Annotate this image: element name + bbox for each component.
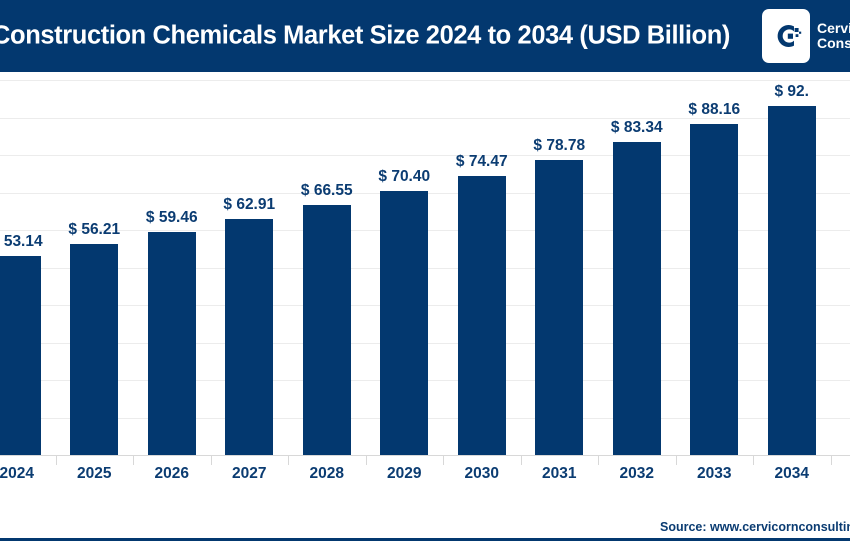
bar[interactable] — [148, 232, 196, 455]
x-axis-tick — [831, 455, 832, 465]
x-axis-ticks — [0, 455, 850, 465]
chart-screenshot: Construction Chemicals Market Size 2024 … — [0, 0, 850, 550]
header-top-edge — [0, 0, 850, 3]
x-axis-label: 2032 — [620, 465, 654, 483]
x-axis-label: 2029 — [387, 465, 421, 483]
bar[interactable] — [768, 106, 816, 455]
brand-logo-text: Cervi Cons — [817, 21, 850, 51]
x-axis-label: 2026 — [155, 465, 189, 483]
bar[interactable] — [303, 205, 351, 455]
source-attribution: Source: www.cervicornconsultin — [660, 520, 850, 534]
bar-value-label: $ 70.40 — [378, 168, 430, 186]
bar-slot: $ 78.78 — [521, 80, 599, 455]
cervicorn-c-logo-icon — [762, 9, 810, 63]
x-axis-label: 2033 — [697, 465, 731, 483]
bar-value-label: $ 83.34 — [611, 119, 663, 137]
bar-slot: $ 92. — [753, 80, 831, 455]
x-axis-label: 2034 — [775, 465, 809, 483]
x-axis-label: 2028 — [310, 465, 344, 483]
bar-value-label: $ 78.78 — [533, 137, 585, 155]
x-axis-tick — [211, 455, 212, 465]
bar[interactable] — [535, 160, 583, 455]
brand-logo-line1: Cervi — [817, 21, 850, 36]
x-axis-label: 2031 — [542, 465, 576, 483]
bar-slot: $ 56.21 — [56, 80, 134, 455]
x-axis-label: 2030 — [465, 465, 499, 483]
bar-value-label: $ 88.16 — [688, 101, 740, 119]
bar-value-label: $ 62.91 — [223, 196, 275, 214]
bar[interactable] — [613, 142, 661, 455]
bar[interactable] — [0, 256, 41, 455]
x-axis-tick — [56, 455, 57, 465]
x-axis-tick — [443, 455, 444, 465]
chart-plot-area: $ 53.14$ 56.21$ 59.46$ 62.91$ 66.55$ 70.… — [0, 72, 850, 483]
bar[interactable] — [380, 191, 428, 455]
footer-rule — [0, 538, 850, 541]
page-title: Construction Chemicals Market Size 2024 … — [0, 22, 730, 51]
chart-header: Construction Chemicals Market Size 2024 … — [0, 0, 850, 72]
bar-slot: $ 74.47 — [443, 80, 521, 455]
x-axis-tick — [676, 455, 677, 465]
bar[interactable] — [225, 219, 273, 455]
bar-series: $ 53.14$ 56.21$ 59.46$ 62.91$ 66.55$ 70.… — [0, 80, 850, 455]
bar[interactable] — [70, 244, 118, 455]
bar-value-label: $ 53.14 — [0, 233, 43, 251]
bar-value-label: $ 66.55 — [301, 182, 353, 200]
bar-slot: $ 88.16 — [676, 80, 754, 455]
x-axis-tick — [521, 455, 522, 465]
bar-value-label: $ 74.47 — [456, 153, 508, 171]
bar-value-label: $ 56.21 — [68, 221, 120, 239]
brand-logo: Cervi Cons — [762, 9, 850, 63]
x-axis-tick — [133, 455, 134, 465]
plot: $ 53.14$ 56.21$ 59.46$ 62.91$ 66.55$ 70.… — [0, 80, 850, 455]
x-axis-tick — [753, 455, 754, 465]
x-axis-tick — [366, 455, 367, 465]
bar-slot: $ 62.91 — [211, 80, 289, 455]
bar-value-label: $ 59.46 — [146, 209, 198, 227]
brand-logo-line2: Cons — [817, 36, 850, 51]
bar-slot: $ 70.40 — [366, 80, 444, 455]
bar-slot: $ 83.34 — [598, 80, 676, 455]
bar-slot: $ 53.14 — [0, 80, 56, 455]
x-axis-label: 2024 — [0, 465, 34, 483]
x-axis-tick — [598, 455, 599, 465]
bar-value-label: $ 92. — [775, 83, 809, 101]
x-axis-label: 2027 — [232, 465, 266, 483]
bar-slot: $ 59.46 — [133, 80, 211, 455]
x-axis-label: 2025 — [77, 465, 111, 483]
x-axis-tick — [288, 455, 289, 465]
bar[interactable] — [690, 124, 738, 455]
bar[interactable] — [458, 176, 506, 455]
bar-slot: $ 66.55 — [288, 80, 366, 455]
